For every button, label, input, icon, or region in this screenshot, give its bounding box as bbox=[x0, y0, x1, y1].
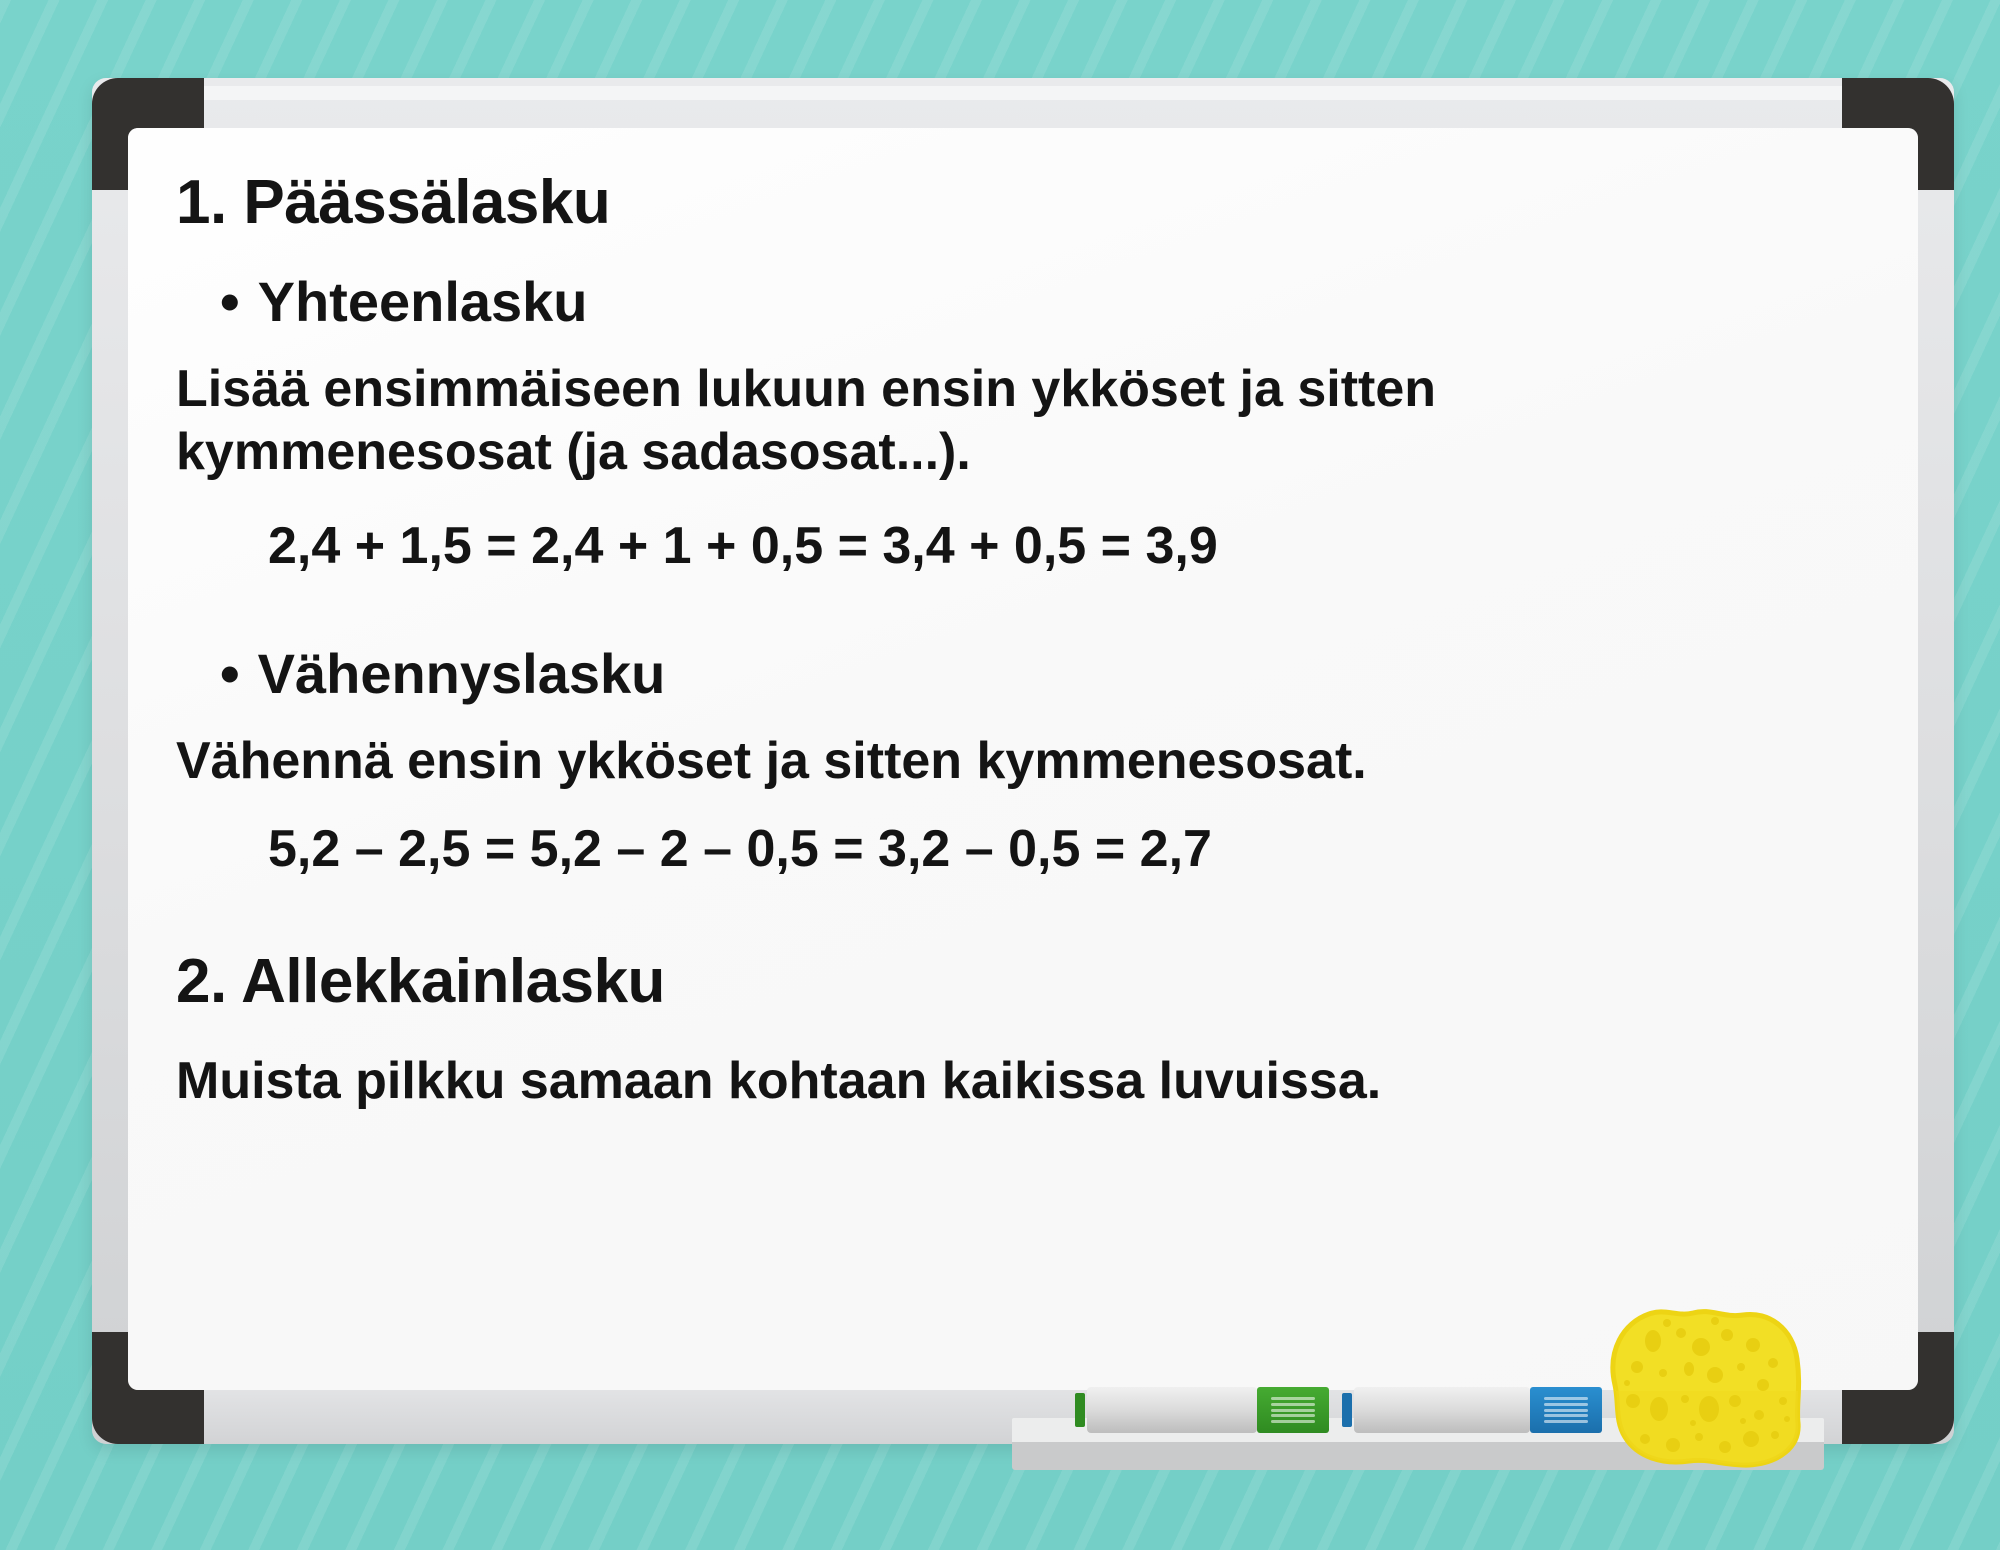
body-text-3-line-1: Muista pilkku samaan kohtaan kaikissa lu… bbox=[176, 1050, 1874, 1112]
body-text-1-line-2: kymmenesosat (ja sadasosat...). bbox=[176, 421, 1874, 483]
green-marker-cap-rings bbox=[1271, 1397, 1315, 1423]
blue-marker-tail bbox=[1342, 1393, 1352, 1427]
blue-marker-body bbox=[1354, 1387, 1530, 1433]
blue-marker-cap-rings bbox=[1544, 1397, 1588, 1423]
green-marker-body bbox=[1087, 1387, 1257, 1433]
bullet-item-vahennyslasku: •Vähennyslasku bbox=[220, 643, 1874, 706]
whiteboard-surface: 1. Päässälasku •Yhteenlasku Lisää ensimm… bbox=[128, 128, 1918, 1390]
blue-marker[interactable] bbox=[1342, 1387, 1590, 1433]
whiteboard-frame-highlight bbox=[102, 86, 1944, 100]
body-text-1-line-1: Lisää ensimmäiseen lukuun ensin ykköset … bbox=[176, 358, 1874, 420]
sponge-icon[interactable] bbox=[1597, 1305, 1817, 1470]
bullet-dot-icon: • bbox=[220, 642, 240, 705]
bullet-label-yhteenlasku: Yhteenlasku bbox=[258, 270, 588, 333]
section-heading-2: 2. Allekkainlasku bbox=[176, 947, 1874, 1016]
lesson-content: 1. Päässälasku •Yhteenlasku Lisää ensimm… bbox=[128, 128, 1918, 1113]
green-marker-cap bbox=[1257, 1387, 1329, 1433]
equation-subtraction: 5,2 – 2,5 = 5,2 – 2 – 0,5 = 3,2 – 0,5 = … bbox=[268, 818, 1874, 880]
body-text-2-line-1: Vähennä ensin ykköset ja sitten kymmenes… bbox=[176, 730, 1874, 792]
blue-marker-cap bbox=[1530, 1387, 1602, 1433]
green-marker[interactable] bbox=[1075, 1387, 1313, 1433]
bullet-label-vahennyslasku: Vähennyslasku bbox=[258, 642, 666, 705]
green-marker-tail bbox=[1075, 1393, 1085, 1427]
bullet-item-yhteenlasku: •Yhteenlasku bbox=[220, 271, 1874, 334]
section-heading-1: 1. Päässälasku bbox=[176, 168, 1874, 237]
equation-addition: 2,4 + 1,5 = 2,4 + 1 + 0,5 = 3,4 + 0,5 = … bbox=[268, 515, 1874, 577]
whiteboard: 1. Päässälasku •Yhteenlasku Lisää ensimm… bbox=[92, 78, 1954, 1444]
bullet-dot-icon: • bbox=[220, 270, 240, 333]
